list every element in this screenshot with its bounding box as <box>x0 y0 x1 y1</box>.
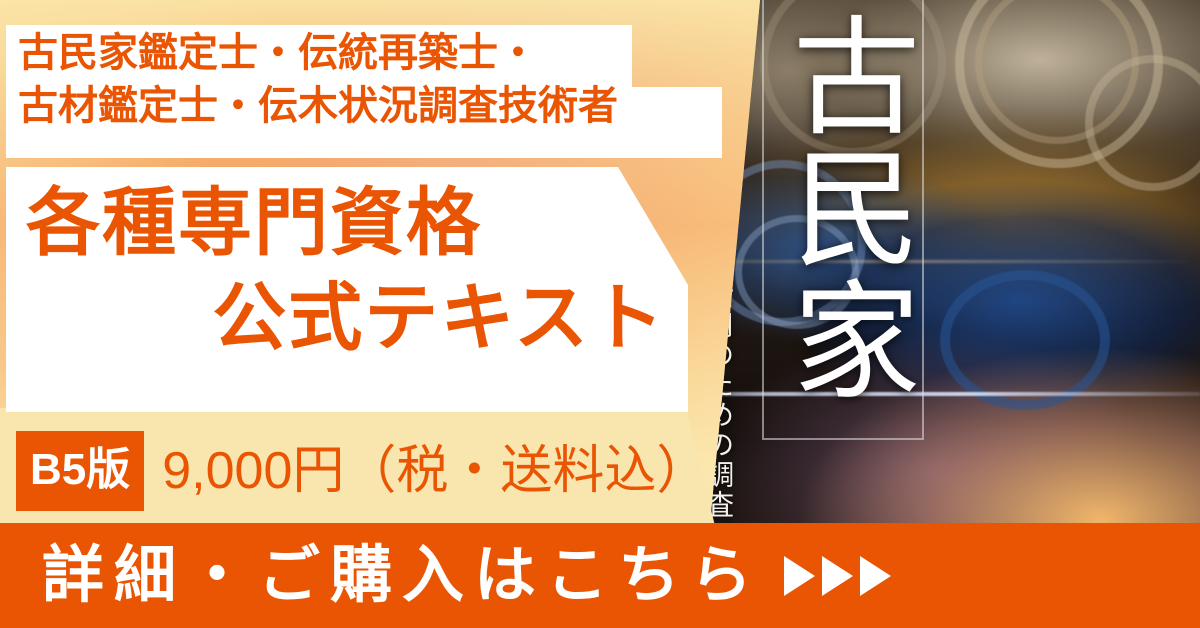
cta-label: 詳細・ご購入はこちら <box>42 545 762 607</box>
certifications-line-2: 古材鑑定士・伝木状況調査技術者 <box>18 80 718 133</box>
chevron-right-icon <box>822 556 853 596</box>
book-cover-title: 古民家 <box>772 10 912 406</box>
carved-swirl-ornament <box>940 270 1110 410</box>
headline-line-1: 各種専門資格 <box>6 176 678 271</box>
headline-line-2: 公式テキスト <box>6 271 678 366</box>
certifications-line-1: 古民家鑑定士・伝統再築士・ <box>18 27 718 80</box>
price-amount: 9,000円（税・送料込） <box>162 445 708 497</box>
chevron-right-icon <box>860 556 891 596</box>
cta-arrows <box>784 556 891 596</box>
certifications-text: 古民家鑑定士・伝統再築士・ 古材鑑定士・伝木状況調査技術者 <box>18 27 718 133</box>
promo-banner: 伝統構法、古民家活用のための調査と再生の 古民家 古民家鑑定士・伝統再築士・ 古… <box>0 0 1200 628</box>
chevron-right-icon <box>784 556 815 596</box>
price-row: B5版 9,000円（税・送料込） <box>16 430 708 512</box>
format-badge: B5版 <box>16 431 144 511</box>
cta-button-bar[interactable]: 詳細・ご購入はこちら <box>0 523 1200 628</box>
headline-text: 各種専門資格 公式テキスト <box>6 176 678 365</box>
